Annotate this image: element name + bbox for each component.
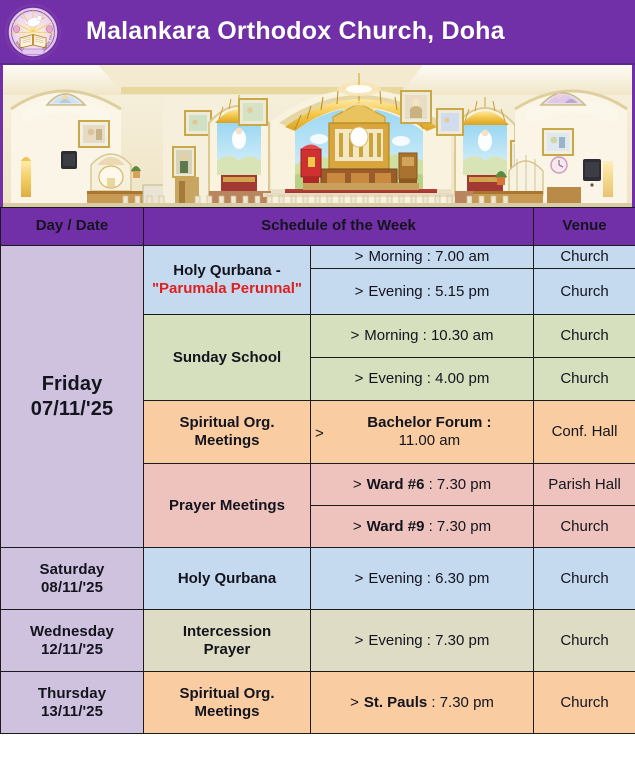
day-cell-wednesday: Wednesday 12/11/'25 <box>1 610 144 672</box>
weekly-schedule-table: Day / Date Schedule of the Week Venue Fr… <box>0 207 635 734</box>
event-cell-intercession-prayer: Intercession Prayer <box>144 610 311 672</box>
detail-cell: >St. Pauls : 7.30 pm <box>311 672 534 734</box>
detail-cell: >Morning : 7.00 am <box>311 246 534 269</box>
day-cell-thursday: Thursday 13/11/'25 <box>1 672 144 734</box>
detail-text-bold: St. Pauls <box>364 694 427 711</box>
event-cell-holy-qurbana-parumala: Holy Qurbana - "Parumala Perunnal" <box>144 246 311 315</box>
venue-cell: Church <box>534 610 635 672</box>
day-name: Wednesday <box>5 623 139 641</box>
table-header-row: Day / Date Schedule of the Week Venue <box>1 208 635 246</box>
day-name: Saturday <box>5 561 139 579</box>
table-row: Friday 07/11/'25 Holy Qurbana - "Parumal… <box>1 246 635 269</box>
day-date: 13/11/'25 <box>5 703 139 721</box>
event-title: Holy Qurbana <box>178 570 276 587</box>
detail-cell: >Evening : 5.15 pm <box>311 269 534 315</box>
day-cell-saturday: Saturday 08/11/'25 <box>1 548 144 610</box>
venue-cell: Church <box>534 672 635 734</box>
column-header-venue: Venue <box>534 208 635 246</box>
bullet-arrow-icon: > <box>355 570 364 588</box>
event-title-line1: Spiritual Org. <box>179 685 274 702</box>
venue-cell: Church <box>534 269 635 315</box>
day-date: 07/11/'25 <box>5 397 139 421</box>
day-cell-friday: Friday 07/11/'25 <box>1 246 144 548</box>
bullet-arrow-icon: > <box>353 518 362 536</box>
event-cell-spiritual-org-meetings-friday: Spiritual Org. Meetings <box>144 401 311 464</box>
event-cell-spiritual-org-meetings-thursday: Spiritual Org. Meetings <box>144 672 311 734</box>
schedule-poster: MALANKARA ORTHODOX CHURCH Malankara Orth… <box>0 0 635 759</box>
bullet-arrow-icon: > <box>350 694 359 712</box>
detail-cell: >Ward #9 : 7.30 pm <box>311 506 534 548</box>
event-cell-holy-qurbana: Holy Qurbana <box>144 548 311 610</box>
event-title: Sunday School <box>173 349 281 366</box>
detail-text: Morning : 7.00 am <box>368 248 489 265</box>
detail-text: Evening : 5.15 pm <box>368 283 489 300</box>
bullet-arrow-icon: > <box>351 327 360 345</box>
detail-text: Morning : 10.30 am <box>364 327 493 344</box>
bullet-arrow-icon: > <box>315 425 324 443</box>
bullet-arrow-icon: > <box>353 476 362 494</box>
detail-cell: >Morning : 10.30 am <box>311 315 534 358</box>
bullet-arrow-icon: > <box>355 248 364 266</box>
table-row: Thursday 13/11/'25 Spiritual Org. Meetin… <box>1 672 635 734</box>
detail-text-plain: : 7.30 pm <box>429 518 492 535</box>
event-title-line2: Meetings <box>194 432 259 449</box>
bullet-arrow-icon: > <box>355 370 364 388</box>
church-emblem-dove-book-icon: MALANKARA ORTHODOX CHURCH <box>4 3 62 61</box>
detail-cell: >Evening : 4.00 pm <box>311 358 534 401</box>
day-date: 08/11/'25 <box>5 579 139 597</box>
event-title: Prayer Meetings <box>169 497 285 514</box>
bullet-arrow-icon: > <box>355 283 364 301</box>
venue-cell: Church <box>534 315 635 358</box>
detail-cell: >Ward #6 : 7.30 pm <box>311 464 534 506</box>
header-banner: MALANKARA ORTHODOX CHURCH Malankara Orth… <box>0 0 635 65</box>
table-row: Wednesday 12/11/'25 Intercession Prayer … <box>1 610 635 672</box>
page-title: Malankara Orthodox Church, Doha <box>86 17 505 46</box>
venue-cell: Church <box>534 506 635 548</box>
event-title-line1: Spiritual Org. <box>179 414 274 431</box>
venue-cell: Church <box>534 548 635 610</box>
detail-text-bold: Ward #9 <box>367 518 425 535</box>
day-date: 12/11/'25 <box>5 641 139 659</box>
event-title-line2: Meetings <box>194 703 259 720</box>
detail-text-plain: : 7.30 pm <box>431 694 494 711</box>
church-interior-photo <box>0 65 635 207</box>
event-cell-sunday-school: Sunday School <box>144 315 311 401</box>
detail-text: Evening : 7.30 pm <box>368 632 489 649</box>
detail-text-bold: Bachelor Forum : <box>315 414 529 432</box>
detail-text-bold: Ward #6 <box>367 476 425 493</box>
column-header-day-date: Day / Date <box>1 208 144 246</box>
detail-cell: > Bachelor Forum : 11.00 am <box>311 401 534 464</box>
detail-cell: >Evening : 6.30 pm <box>311 548 534 610</box>
detail-cell: >Evening : 7.30 pm <box>311 610 534 672</box>
event-title-line2: Prayer <box>204 641 251 658</box>
venue-cell: Church <box>534 358 635 401</box>
bullet-arrow-icon: > <box>355 632 364 650</box>
day-name: Thursday <box>5 685 139 703</box>
detail-text: Evening : 4.00 pm <box>368 370 489 387</box>
venue-cell: Conf. Hall <box>534 401 635 464</box>
venue-cell: Church <box>534 246 635 269</box>
bottom-spacer <box>0 734 635 740</box>
column-header-schedule: Schedule of the Week <box>144 208 534 246</box>
event-subtitle-highlight: "Parumala Perunnal" <box>148 280 306 298</box>
detail-text: Evening : 6.30 pm <box>368 570 489 587</box>
table-row: Saturday 08/11/'25 Holy Qurbana >Evening… <box>1 548 635 610</box>
venue-cell: Parish Hall <box>534 464 635 506</box>
day-name: Friday <box>5 372 139 396</box>
event-title-line1: Intercession <box>183 623 271 640</box>
detail-text-plain: : 7.30 pm <box>429 476 492 493</box>
detail-text-plain: 11.00 am <box>315 432 529 450</box>
event-cell-prayer-meetings: Prayer Meetings <box>144 464 311 548</box>
event-title: Holy Qurbana - <box>173 262 281 279</box>
